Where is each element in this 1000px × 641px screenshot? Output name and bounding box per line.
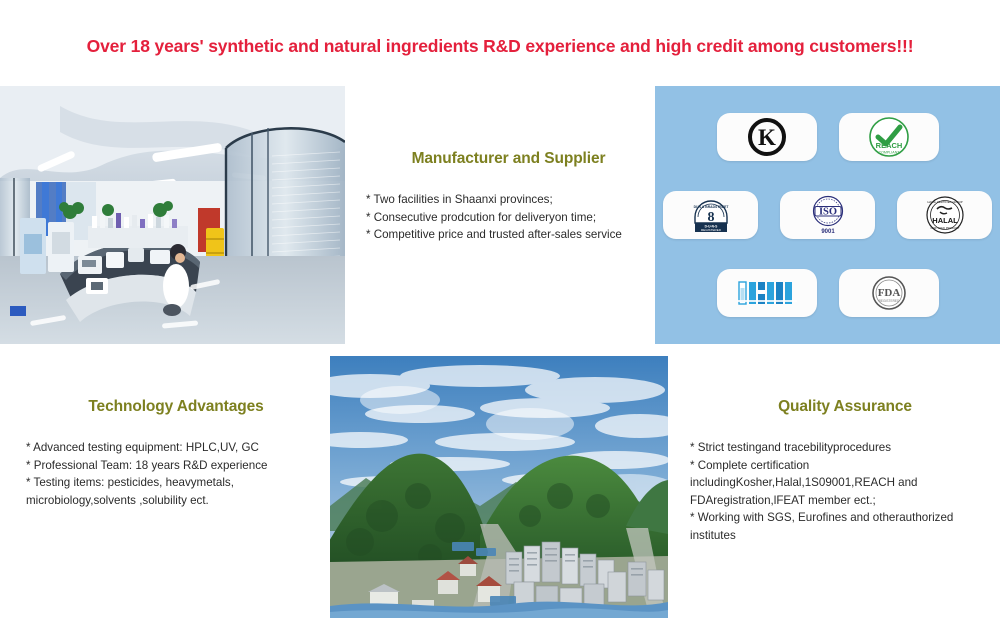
svg-text:8: 8 bbox=[707, 210, 714, 225]
svg-text:COMPLIANT: COMPLIANT bbox=[878, 151, 900, 155]
svg-text:CERTIFIED PRODUCT: CERTIFIED PRODUCT bbox=[930, 226, 960, 230]
certification-panel: K REACH COMPLIANT bbox=[655, 86, 1000, 344]
manufacturer-section: Manufacturer and Supplier * Two faciliti… bbox=[366, 150, 651, 244]
certification-row: FDA REGISTERED bbox=[663, 269, 992, 317]
svg-text:HALAL CERTIFIED GROUP: HALAL CERTIFIED GROUP bbox=[927, 200, 962, 204]
technology-bullet-list: * Advanced testing equipment: HPLC,UV, G… bbox=[26, 439, 326, 509]
ifeat-icon bbox=[737, 278, 797, 308]
ifeat-badge[interactable] bbox=[717, 269, 817, 317]
reach-icon: REACH COMPLIANT bbox=[868, 116, 910, 158]
svg-text:DUN & BRADSTREET: DUN & BRADSTREET bbox=[693, 205, 729, 209]
svg-text:REGISTERED: REGISTERED bbox=[700, 228, 721, 232]
svg-text:REACH: REACH bbox=[875, 141, 902, 150]
duns-badge[interactable]: DUN & BRADSTREET 8 D-U-N-S REGISTERED bbox=[663, 191, 758, 239]
laboratory-panorama-photo bbox=[0, 86, 345, 344]
certification-row: K REACH COMPLIANT bbox=[663, 113, 992, 161]
svg-text:ISO: ISO bbox=[818, 206, 836, 217]
iso-badge[interactable]: ISO 9001 bbox=[780, 191, 875, 239]
svg-text:K: K bbox=[758, 125, 776, 150]
certification-grid: K REACH COMPLIANT bbox=[663, 98, 992, 332]
iso-icon: ISO 9001 bbox=[806, 194, 850, 236]
technology-heading: Technology Advantages bbox=[26, 398, 326, 416]
bullet-item: * Consecutive prodcution for deliveryon … bbox=[366, 209, 651, 227]
bullet-item: * Complete certification includingKosher… bbox=[690, 457, 1000, 510]
halal-badge[interactable]: HALAL HALAL CERTIFIED GROUP CERTIFIED PR… bbox=[897, 191, 992, 239]
bullet-item: * Professional Team: 18 years R&D experi… bbox=[26, 457, 326, 475]
certification-row: DUN & BRADSTREET 8 D-U-N-S REGISTERED IS… bbox=[663, 191, 992, 239]
manufacturer-bullet-list: * Two facilities in Shaanxi provinces; *… bbox=[366, 191, 651, 244]
bullet-item: microbiology,solvents ,solubility ect. bbox=[26, 492, 326, 510]
bullet-item: * Competitive price and trusted after-sa… bbox=[366, 226, 651, 244]
bullet-item: * Testing items: pesticides, heavymetals… bbox=[26, 474, 326, 492]
page-title: Over 18 years' synthetic and natural ing… bbox=[0, 36, 1000, 57]
quality-heading: Quality Assurance bbox=[690, 398, 1000, 416]
svg-text:HALAL: HALAL bbox=[932, 216, 958, 225]
bullet-item: * Two facilities in Shaanxi provinces; bbox=[366, 191, 651, 209]
bullet-item: * Strict testingand tracebilityprocedure… bbox=[690, 439, 1000, 457]
kosher-badge[interactable]: K bbox=[717, 113, 817, 161]
reach-badge[interactable]: REACH COMPLIANT bbox=[839, 113, 939, 161]
marketing-infographic-page: Over 18 years' synthetic and natural ing… bbox=[0, 0, 1000, 641]
fda-icon: FDA REGISTERED bbox=[869, 273, 909, 313]
svg-text:FDA: FDA bbox=[877, 287, 900, 299]
fda-badge[interactable]: FDA REGISTERED bbox=[839, 269, 939, 317]
bullet-item: * Working with SGS, Eurofines and othera… bbox=[690, 509, 1000, 544]
quality-section: Quality Assurance * Strict testingand tr… bbox=[690, 398, 1000, 544]
town-aerial-panorama-illustration bbox=[330, 356, 668, 618]
duns-icon: DUN & BRADSTREET 8 D-U-N-S REGISTERED bbox=[689, 195, 733, 235]
manufacturer-heading: Manufacturer and Supplier bbox=[366, 150, 651, 168]
svg-text:REGISTERED: REGISTERED bbox=[878, 299, 899, 303]
laboratory-panorama-illustration bbox=[0, 86, 345, 344]
bullet-item: * Advanced testing equipment: HPLC,UV, G… bbox=[26, 439, 326, 457]
town-aerial-panorama-photo bbox=[330, 356, 668, 618]
technology-section: Technology Advantages * Advanced testing… bbox=[26, 398, 326, 509]
kosher-icon: K bbox=[747, 117, 787, 157]
halal-icon: HALAL HALAL CERTIFIED GROUP CERTIFIED PR… bbox=[924, 194, 966, 236]
quality-bullet-list: * Strict testingand tracebilityprocedure… bbox=[690, 439, 1000, 544]
svg-text:9001: 9001 bbox=[821, 229, 835, 235]
